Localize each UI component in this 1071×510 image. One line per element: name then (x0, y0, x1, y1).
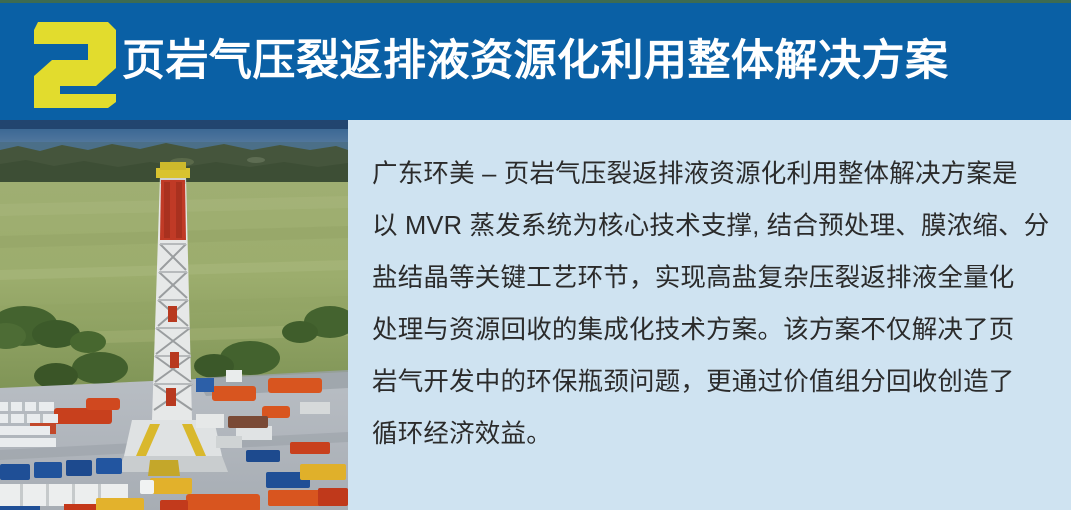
page-title: 页岩气压裂返排液资源化利用整体解决方案 (122, 40, 949, 83)
section-number-badge (30, 16, 116, 108)
number-two-glyph-icon (30, 16, 116, 108)
section-header-band: 页岩气压裂返排液资源化利用整体解决方案 (0, 3, 1071, 120)
slide-root: 页岩气压裂返排液资源化利用整体解决方案 (0, 0, 1071, 510)
drilling-site-illustration (0, 120, 348, 510)
drilling-site-photo (0, 120, 348, 510)
solution-description-text: 广东环美 – 页岩气压裂返排液资源化利用整体解决方案是 以 MVR 蒸发系统为核… (372, 148, 1052, 460)
description-panel: 广东环美 – 页岩气压裂返排液资源化利用整体解决方案是 以 MVR 蒸发系统为核… (348, 120, 1071, 510)
